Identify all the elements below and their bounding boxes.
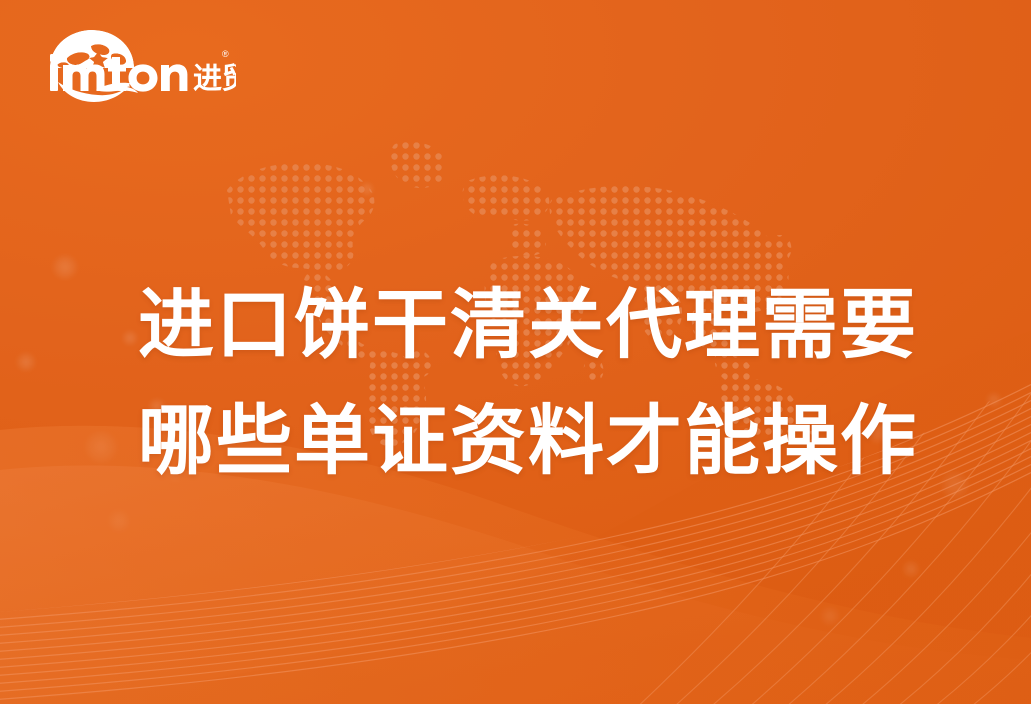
- page-title-line-1: 进口饼干清关代理需要: [138, 268, 938, 384]
- brand-logo[interactable]: 进贸通 ®: [36, 24, 236, 108]
- trademark-symbol: ®: [222, 49, 229, 59]
- page-title-line-2: 哪些单证资料才能操作: [138, 384, 938, 500]
- promo-banner: 进贸通 ® 进口饼干清关代理需要 哪些单证资料才能操作: [0, 0, 1031, 704]
- page-title: 进口饼干清关代理需要 哪些单证资料才能操作: [138, 268, 938, 500]
- logo-wordmark-chinese: 进贸通: [193, 62, 236, 95]
